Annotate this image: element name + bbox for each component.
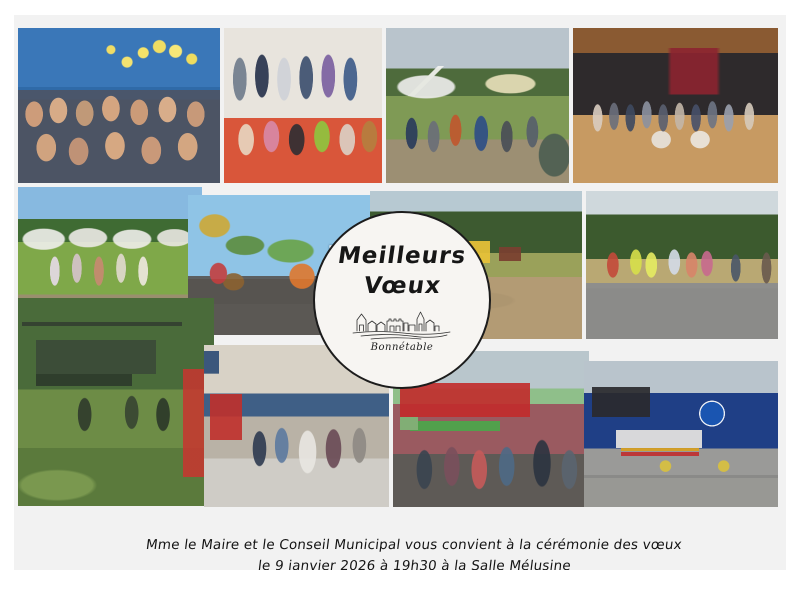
greeting-line-1: Meilleurs bbox=[336, 243, 468, 269]
town-name-label: Bonnétable bbox=[371, 342, 434, 353]
invitation-line-1: Mme le Maire et le Conseil Municipal vou… bbox=[145, 537, 683, 553]
photo-cycling-race bbox=[586, 191, 778, 339]
photo-balloons-group bbox=[18, 28, 220, 183]
photo-costumed-children bbox=[224, 28, 382, 183]
greeting-card-poster: BOUM!! Meilleurs Vœux bbox=[0, 0, 800, 600]
photo-military-helicopter bbox=[18, 298, 214, 506]
greeting-badge: Meilleurs Vœux bbox=[313, 211, 491, 389]
photo-rally-car-podium bbox=[584, 361, 778, 507]
invitation-line-2: le 9 janvier 2026 à 19h30 à la Salle Mél… bbox=[257, 558, 572, 571]
photo-outdoor-marquee bbox=[386, 28, 569, 183]
invitation-text-block: Mme le Maire et le Conseil Municipal vou… bbox=[28, 525, 786, 570]
photo-hall-group bbox=[573, 28, 778, 183]
town-skyline-icon bbox=[349, 309, 455, 343]
greeting-line-2: Vœux bbox=[362, 273, 443, 299]
town-logo: Bonnétable bbox=[347, 309, 457, 353]
photo-collage: BOUM!! Meilleurs Vœux bbox=[14, 15, 786, 570]
